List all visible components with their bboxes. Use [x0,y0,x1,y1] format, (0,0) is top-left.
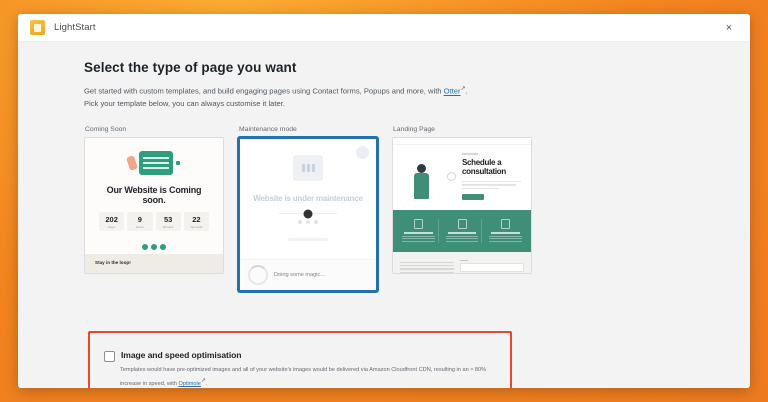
avatar-badge-icon [356,146,369,159]
page-description: Get started with custom templates, and b… [84,85,504,111]
optimisation-description-text: Templates would have pre-optimized image… [120,367,486,387]
circle-icon [447,172,456,181]
lightstart-logo-icon [30,20,45,35]
coming-soon-illustration-icon [95,146,213,180]
page-description-line2: Pick your template below, you can always… [84,99,285,108]
close-icon[interactable]: × [718,19,740,37]
countdown-value: 22 [184,215,209,224]
countdown-unit: Seconds [184,225,209,229]
feature-icon [501,219,510,229]
preview-hero: Schedule a consultation [393,145,531,211]
footer-text [95,267,213,271]
external-link-icon: ↗ [201,378,206,384]
page-title: Select the type of page you want [84,60,750,75]
feature-icon [458,219,467,229]
template-preview-selected[interactable]: Website is under maintenance Doing some … [238,137,378,292]
template-label: Landing Page [393,126,532,133]
template-preview[interactable]: Our Website is Coming soon. 202 Days 9 H… [84,137,224,274]
countdown-unit: Hours [127,225,152,229]
window-titlebar: LightStart × [18,14,750,42]
template-preview[interactable]: Schedule a consultation [392,137,532,274]
template-card-coming-soon[interactable]: Coming Soon Our Website is Coming soon. [84,126,224,292]
countdown-cell: 22 Seconds [184,212,209,231]
otter-link[interactable]: Otter [444,87,461,96]
optimisation-label[interactable]: Image and speed optimisation [121,350,241,360]
loading-overlay: Doing some magic... [240,259,376,290]
preview-contact-form [393,252,531,274]
feature-icon [414,219,423,229]
loading-text: Doing some magic... [274,272,325,278]
form-copy [400,260,454,274]
footer-heading: Stay in the loop! [95,260,213,265]
spinner-icon [248,265,268,285]
preview-input [460,263,524,272]
preview-heading: Our Website is Coming soon. [97,185,211,206]
countdown-value: 9 [127,215,152,224]
countdown-timer: 202 Days 9 Hours 53 Minutes [99,212,209,231]
preview-body-text [462,181,523,190]
optimisation-section: Image and speed optimisation Templates w… [104,350,500,388]
countdown-cell: 9 Hours [127,212,152,231]
countdown-unit: Minutes [156,225,181,229]
countdown-value: 202 [99,215,124,224]
countdown-unit: Days [99,225,124,229]
preview-cta-button [462,194,484,200]
countdown-cell: 53 Minutes [156,212,181,231]
lightstart-window: LightStart × Select the type of page you… [18,14,750,388]
countdown-cell: 202 Days [99,212,124,231]
template-card-landing-page[interactable]: Landing Page Schedule a consultation [392,126,532,292]
social-icons [298,220,318,224]
optimole-link[interactable]: Optimole [178,381,200,387]
gear-icon [304,210,313,219]
window-content: Select the type of page you want Get sta… [18,42,750,388]
preview-bar [288,238,328,241]
countdown-value: 53 [156,215,181,224]
preview-heading: Website is under maintenance [253,194,362,205]
template-list: Coming Soon Our Website is Coming soon. [84,126,750,292]
maintenance-illustration-icon [293,155,323,181]
template-label: Coming Soon [85,126,224,133]
social-icons [95,244,213,250]
preview-features [393,210,531,252]
preview-footer: Stay in the loop! [85,254,223,273]
brand: LightStart [30,20,96,35]
preview-heading: Schedule a consultation [462,158,523,177]
template-label: Maintenance mode [239,126,378,133]
page-description-line1: Get started with custom templates, and b… [84,87,444,96]
preview-navbar [393,138,531,145]
external-link-icon: ↗ [461,86,466,92]
brand-name: LightStart [54,22,96,33]
person-illustration-icon [401,153,441,199]
optimisation-description: Templates would have pre-optimized image… [120,366,498,388]
image-speed-optimisation-checkbox[interactable] [104,351,115,362]
preview-body-text [103,236,205,240]
template-card-maintenance-mode[interactable]: Maintenance mode Website is under mainte… [238,126,378,292]
